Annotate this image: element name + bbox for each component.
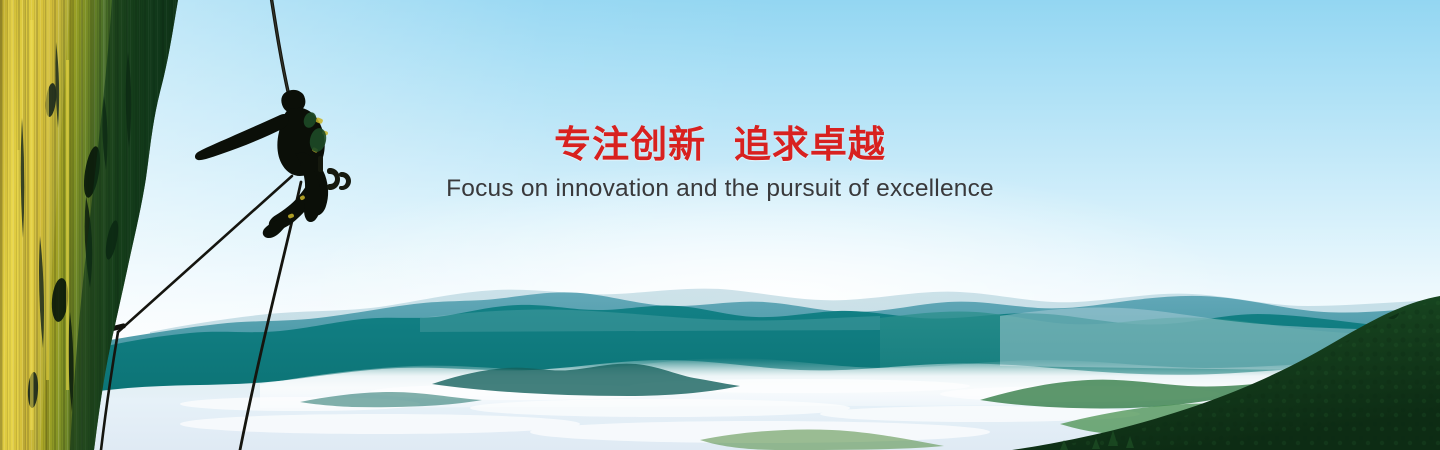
headline-chinese: 专注创新 追求卓越 (0, 124, 1440, 165)
banner-text-block: 专注创新 追求卓越 Focus on innovation and the pu… (0, 124, 1440, 204)
scenery-illustration (0, 0, 1440, 450)
hero-banner: 专注创新 追求卓越 Focus on innovation and the pu… (0, 0, 1440, 450)
headline-english-subtitle: Focus on innovation and the pursuit of e… (0, 174, 1440, 203)
